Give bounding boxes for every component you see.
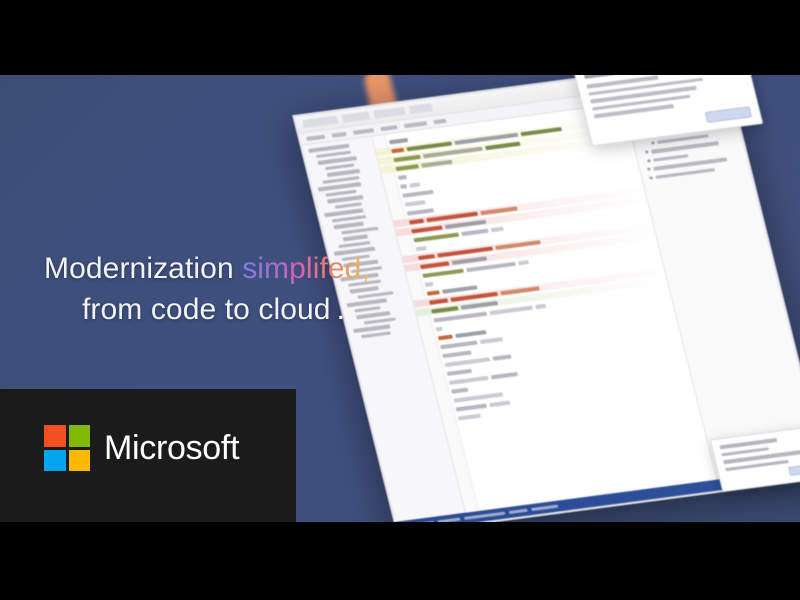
code-token <box>455 403 487 411</box>
code-token <box>418 254 435 260</box>
code-token <box>461 228 488 235</box>
code-token <box>451 387 468 393</box>
logo-square-top-right <box>69 425 91 447</box>
headline-line-2: from code to cloud. <box>44 289 370 330</box>
logo-square-top-left <box>44 425 66 447</box>
code-token <box>391 147 404 153</box>
tree-indent <box>327 233 339 235</box>
code-token <box>409 182 420 187</box>
bullet-icon <box>651 141 655 144</box>
status-segment <box>464 512 505 520</box>
tree-indent <box>329 239 341 241</box>
letterbox-top <box>0 0 800 75</box>
code-token <box>447 368 472 375</box>
microsoft-logo: Microsoft <box>44 425 239 471</box>
tree-indent <box>314 182 320 183</box>
card-primary-button[interactable] <box>788 465 800 476</box>
tree-indent <box>318 195 324 196</box>
headline-accent: simplifed, <box>242 252 370 285</box>
menu-item[interactable] <box>331 131 346 137</box>
code-token <box>409 218 424 224</box>
code-token <box>455 330 487 338</box>
bullet-icon <box>645 151 649 154</box>
code-token <box>404 200 425 207</box>
menu-item[interactable] <box>404 121 427 128</box>
headline-dot: . <box>331 289 345 330</box>
code-token <box>415 245 426 250</box>
logo-square-bottom-left <box>44 450 66 472</box>
status-segment <box>509 509 528 514</box>
logo-square-bottom-right <box>69 450 91 472</box>
code-token <box>535 303 546 308</box>
ide-tab[interactable] <box>373 107 406 119</box>
letterbox-bottom <box>0 522 800 600</box>
headline-prefix: Modernization <box>44 252 242 285</box>
code-token <box>431 306 458 313</box>
microsoft-wordmark: Microsoft <box>104 429 239 468</box>
tree-indent <box>308 157 314 158</box>
menu-item[interactable] <box>433 118 446 124</box>
code-token <box>393 154 420 161</box>
microsoft-brand-panel: Microsoft <box>0 389 296 522</box>
tree-label <box>335 202 362 209</box>
tree-indent <box>321 207 333 209</box>
tree-indent <box>326 227 332 228</box>
code-token <box>442 350 471 358</box>
headline: Modernization simplifed, from code to cl… <box>44 248 370 330</box>
menu-item[interactable] <box>306 134 325 140</box>
tree-indent <box>319 202 325 203</box>
code-token <box>427 290 440 296</box>
item-label <box>655 168 715 179</box>
code-token <box>389 138 408 144</box>
menu-item[interactable] <box>353 128 374 135</box>
code-token <box>420 261 449 269</box>
code-token <box>421 159 453 167</box>
code-token <box>411 225 443 233</box>
item-label <box>653 154 688 162</box>
code-token <box>458 413 481 420</box>
status-segment <box>531 505 558 511</box>
bullet-icon <box>647 168 651 171</box>
tree-indent <box>324 221 330 222</box>
code-token <box>398 174 407 179</box>
menu-item[interactable] <box>380 125 397 131</box>
tree-label <box>361 331 391 338</box>
tree-indent <box>353 337 359 338</box>
code-token <box>438 334 453 340</box>
ide-tab[interactable] <box>342 111 370 122</box>
code-token <box>402 189 434 197</box>
code-token <box>395 164 418 171</box>
tree-indent <box>310 163 316 164</box>
tree-label <box>343 234 368 241</box>
code-token <box>400 184 407 189</box>
code-token <box>480 337 503 344</box>
microsoft-logo-icon <box>44 425 90 471</box>
code-token <box>407 208 434 215</box>
headline-line2-text: from code to cloud <box>82 293 331 326</box>
summary-card-rows <box>719 429 800 471</box>
ide-tab[interactable] <box>302 116 339 128</box>
code-token <box>424 281 433 286</box>
video-frame: Modernization simplifed, from code to cl… <box>0 0 800 600</box>
code-token <box>491 226 504 232</box>
code-token <box>489 400 510 407</box>
code-token <box>491 371 518 378</box>
headline-line-1: Modernization simplifed, <box>44 248 370 289</box>
bullet-icon <box>649 176 653 179</box>
bullet-icon <box>647 159 651 162</box>
item-indent <box>638 143 648 144</box>
code-token <box>492 354 511 360</box>
code-token <box>429 298 448 304</box>
code-token <box>518 260 529 265</box>
tree-indent <box>313 175 325 177</box>
tree-indent <box>311 169 323 171</box>
dialog-continue-button[interactable] <box>704 106 751 123</box>
code-token <box>435 326 442 331</box>
ide-tab[interactable] <box>409 103 433 114</box>
